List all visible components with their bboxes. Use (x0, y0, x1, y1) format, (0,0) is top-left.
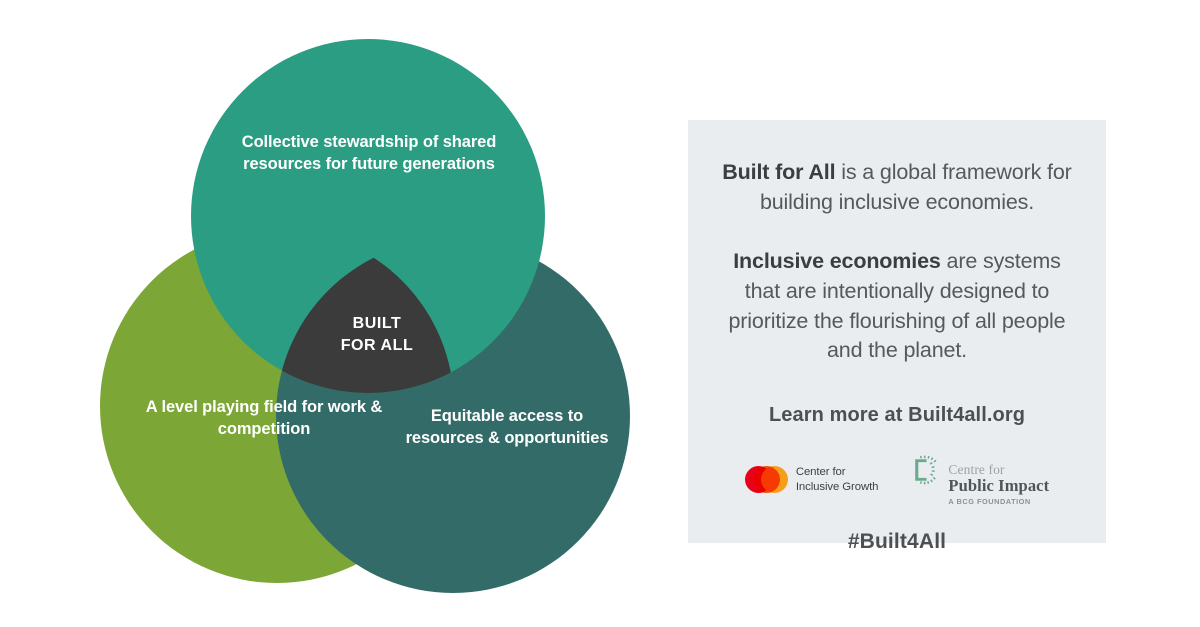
learn-more-link[interactable]: Learn more at Built4all.org (716, 404, 1078, 427)
partner-logos: Center for Inclusive Growth (716, 453, 1078, 506)
mastercard-overlap-circle (753, 466, 780, 493)
hashtag-built4all: #Built4All (716, 530, 1078, 554)
mastercard-wordmark-line-2: Inclusive Growth (796, 480, 879, 494)
cpi-wordmark-line-2: Public Impact (948, 477, 1049, 495)
venn-shapes (0, 0, 660, 627)
mastercard-wordmark-line-1: Center for (796, 465, 879, 479)
cpi-wordmark: Centre for Public Impact A BCG FOUNDATIO… (948, 453, 1049, 506)
logo-mastercard-center-for-inclusive-growth[interactable]: Center for Inclusive Growth (745, 465, 879, 494)
venn-diagram: Collective stewardship of shared resourc… (0, 0, 660, 627)
cpi-wordmark-line-3: A BCG FOUNDATION (948, 497, 1049, 506)
panel-paragraph-2-bold: Inclusive economies (733, 249, 940, 273)
panel-paragraph-inclusive-economies: Inclusive economies are systems that are… (716, 247, 1078, 366)
cpi-wordmark-line-1: Centre for (948, 463, 1049, 477)
panel-paragraph-1-bold: Built for All (722, 160, 835, 184)
mastercard-wordmark: Center for Inclusive Growth (796, 465, 879, 494)
info-panel: Built for All is a global framework for … (688, 120, 1106, 543)
cpi-bracket-icon (912, 455, 942, 485)
panel-paragraph-built-for-all: Built for All is a global framework for … (716, 158, 1078, 217)
logo-centre-for-public-impact[interactable]: Centre for Public Impact A BCG FOUNDATIO… (912, 453, 1049, 506)
mastercard-circles-icon (745, 466, 788, 493)
infographic-canvas: Collective stewardship of shared resourc… (0, 0, 1200, 627)
